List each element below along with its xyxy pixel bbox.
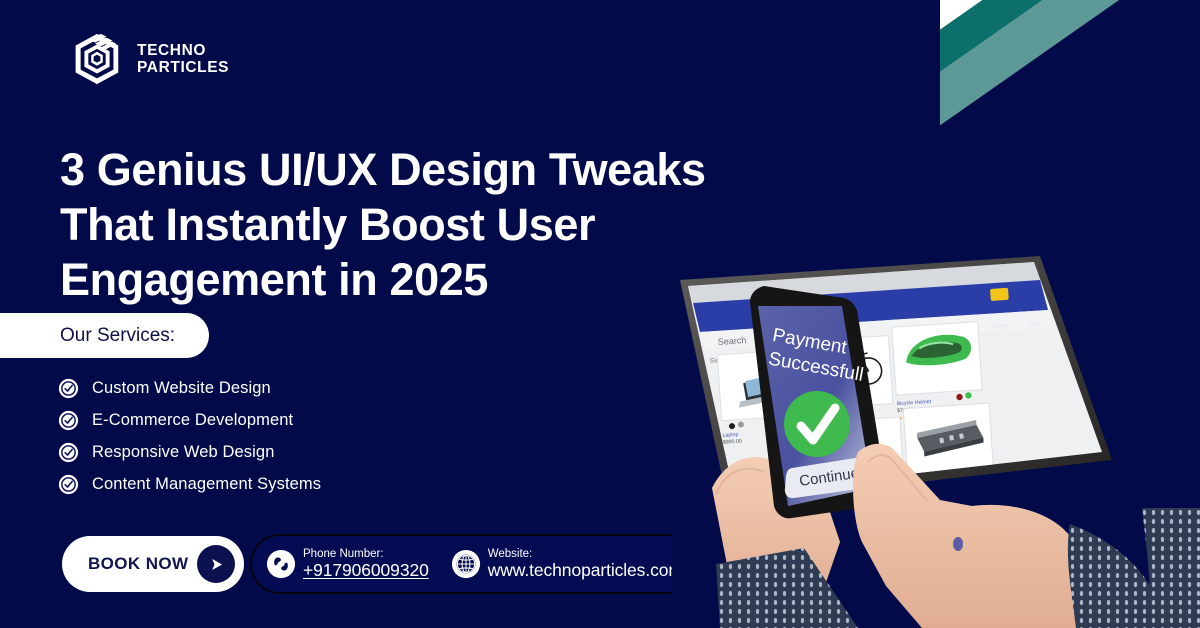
brand-name-line2: PARTICLES: [137, 59, 229, 76]
website-caption: Website:: [488, 549, 683, 561]
services-heading-pill: Our Services:: [0, 313, 209, 358]
decor-stripe-white: [940, 0, 1004, 252]
brand-name-line1: TECHNO: [137, 42, 206, 59]
svg-text:Page: Page: [994, 323, 1009, 330]
decor-stripe-white: [940, 0, 1131, 262]
headline-line-2: That Instantly Boost User: [60, 197, 780, 252]
svg-text:Sort: Sort: [1030, 321, 1042, 328]
decor-stripe-teal-soft: [940, 0, 1200, 227]
brand-name: TECHNO PARTICLES: [137, 42, 229, 76]
svg-text:$890.00: $890.00: [723, 439, 742, 446]
service-label: Custom Website Design: [92, 379, 271, 398]
list-item: E-Commerce Development: [58, 410, 321, 431]
decor-stripe-teal: [940, 0, 1062, 229]
check-circle-icon: [58, 378, 79, 399]
phone-value[interactable]: +917906009320: [303, 562, 429, 580]
website-texts: Website: www.technoparticles.com: [488, 549, 683, 580]
list-item: Content Management Systems: [58, 474, 321, 495]
isometric-cube-logo-icon: [68, 30, 126, 88]
svg-text:Laptop: Laptop: [722, 432, 738, 439]
contact-bar: Phone Number: +917906009320 Website:: [250, 534, 712, 594]
promo-banner: TECHNO PARTICLES 3 Genius UI/UX Design T…: [0, 0, 1200, 628]
decor-stripe-teal: [940, 0, 1200, 240]
check-circle-icon: [58, 442, 79, 463]
play-arrow-glyph: [208, 556, 225, 573]
service-label: E-Commerce Development: [92, 411, 293, 430]
brand-logo[interactable]: TECHNO PARTICLES: [68, 30, 229, 88]
phone-texts: Phone Number: +917906009320: [303, 549, 429, 580]
services-list: Custom Website Design E-Commerce Develop…: [58, 378, 321, 495]
list-item: Custom Website Design: [58, 378, 321, 399]
check-circle-icon: [58, 410, 79, 431]
svg-text:Search: Search: [717, 335, 746, 347]
globe-icon: [451, 549, 481, 579]
services-heading-label: Our Services:: [60, 325, 175, 347]
website-contact[interactable]: Website: www.technoparticles.com: [451, 549, 683, 580]
headline-line-1: 3 Genius UI/UX Design Tweaks: [60, 142, 780, 197]
list-item: Responsive Web Design: [58, 442, 321, 463]
website-value[interactable]: www.technoparticles.com: [488, 562, 683, 580]
book-now-button[interactable]: BOOK NOW: [62, 536, 244, 592]
phone-caption: Phone Number:: [303, 549, 429, 561]
check-circle-icon: [58, 474, 79, 495]
service-label: Content Management Systems: [92, 475, 321, 494]
corner-stripe-decoration: [940, 0, 1200, 270]
hero-photo: Search Page Sort Sidebar: [672, 256, 1200, 628]
payment-scene-illustration: Search Page Sort Sidebar: [672, 256, 1200, 628]
book-now-label: BOOK NOW: [88, 554, 188, 574]
service-label: Responsive Web Design: [92, 443, 274, 462]
play-arrow-icon: [197, 545, 235, 583]
phone-circle-icon: [266, 549, 296, 579]
phone-contact[interactable]: Phone Number: +917906009320: [266, 549, 429, 580]
green-check-circle-icon: [784, 391, 850, 457]
